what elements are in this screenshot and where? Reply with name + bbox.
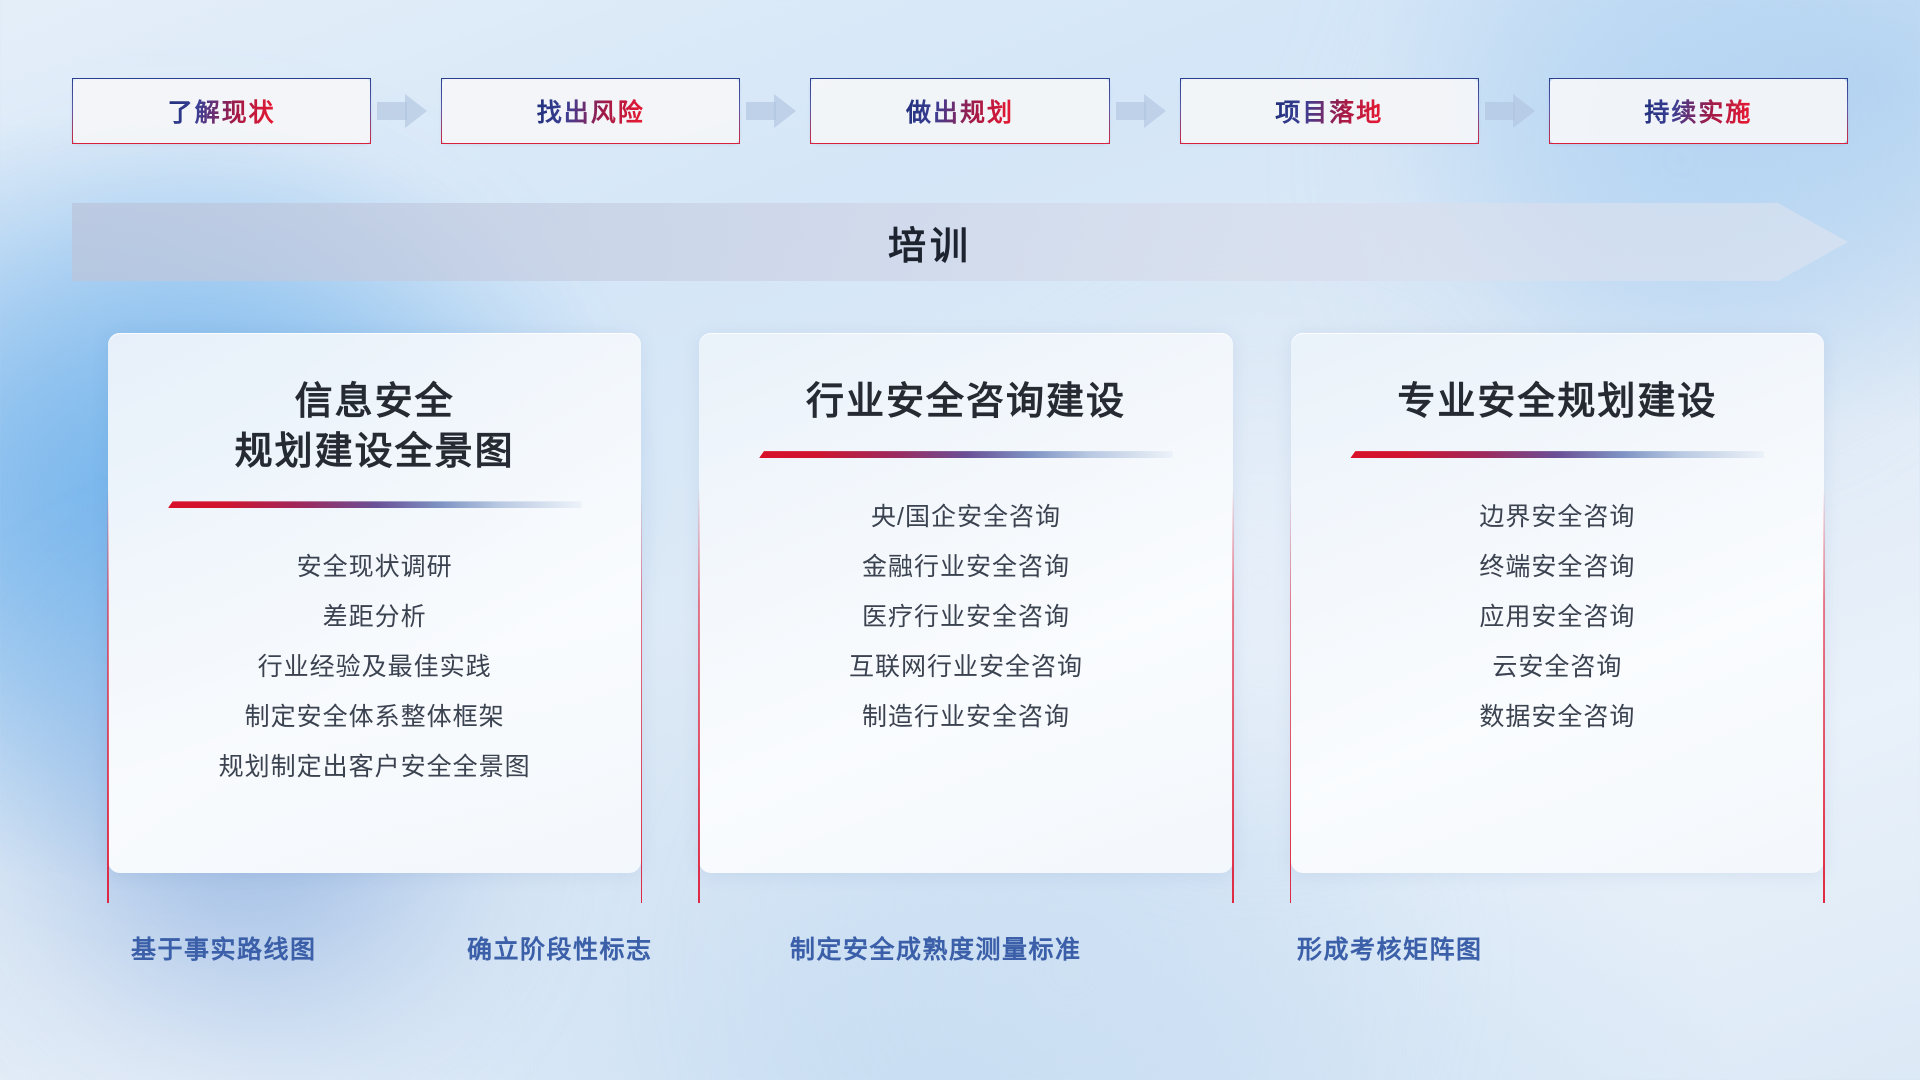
step-box-4[interactable]: 项目落地 (1180, 78, 1479, 144)
list-item: 央/国企安全咨询 (849, 492, 1083, 542)
step-arrow-icon-3 (1116, 94, 1174, 128)
training-banner: 培训 (72, 203, 1848, 281)
list-item: 制定安全体系整体框架 (219, 692, 531, 742)
step-arrow-icon-2 (746, 94, 804, 128)
list-item: 互联网行业安全咨询 (849, 642, 1083, 692)
step-arrow-icon-4 (1485, 94, 1543, 128)
footnote-row: 基于事实路线图 确立阶段性标志 制定安全成熟度测量标准 形成考核矩阵图 (0, 930, 1920, 980)
list-item: 边界安全咨询 (1479, 492, 1635, 542)
step-box-2[interactable]: 找出风险 (441, 78, 740, 144)
card-item-list: 央/国企安全咨询 金融行业安全咨询 医疗行业安全咨询 互联网行业安全咨询 制造行… (849, 492, 1083, 742)
banner-title: 培训 (72, 203, 1848, 281)
card-divider-rule (759, 451, 1173, 458)
list-item: 差距分析 (219, 592, 531, 642)
list-item: 行业经验及最佳实践 (219, 642, 531, 692)
step-label: 了解现状 (168, 93, 276, 129)
step-box-5[interactable]: 持续实施 (1549, 78, 1848, 144)
step-label: 找出风险 (537, 93, 645, 129)
card-title: 信息安全 规划建设全景图 (235, 377, 515, 477)
card-group: 信息安全 规划建设全景图 安全现状调研 差距分析 行业经验及最佳实践 制定安全体… (108, 333, 1824, 873)
card-information-security-blueprint[interactable]: 信息安全 规划建设全景图 安全现状调研 差距分析 行业经验及最佳实践 制定安全体… (108, 333, 641, 873)
card-item-list: 边界安全咨询 终端安全咨询 应用安全咨询 云安全咨询 数据安全咨询 (1479, 492, 1635, 742)
card-divider-rule (1350, 451, 1764, 458)
footnote-label: 形成考核矩阵图 (1297, 930, 1483, 966)
card-divider-rule (168, 501, 582, 508)
footnote-label: 基于事实路线图 (131, 930, 317, 966)
list-item: 云安全咨询 (1479, 642, 1635, 692)
list-item: 医疗行业安全咨询 (849, 592, 1083, 642)
card-title: 专业安全规划建设 (1397, 377, 1717, 427)
footnote-label: 确立阶段性标志 (467, 930, 653, 966)
step-box-3[interactable]: 做出规划 (810, 78, 1109, 144)
list-item: 应用安全咨询 (1479, 592, 1635, 642)
list-item: 安全现状调研 (219, 542, 531, 592)
process-step-flow: 了解现状 找出风险 做出规划 项目落地 持续实施 (72, 78, 1848, 144)
step-box-1[interactable]: 了解现状 (72, 78, 371, 144)
list-item: 数据安全咨询 (1479, 692, 1635, 742)
step-arrow-icon-1 (377, 94, 435, 128)
list-item: 金融行业安全咨询 (849, 542, 1083, 592)
card-title: 行业安全咨询建设 (806, 377, 1126, 427)
footnote-label: 制定安全成熟度测量标准 (790, 930, 1082, 966)
card-industry-security-consulting[interactable]: 行业安全咨询建设 央/国企安全咨询 金融行业安全咨询 医疗行业安全咨询 互联网行… (699, 333, 1232, 873)
card-professional-security-planning[interactable]: 专业安全规划建设 边界安全咨询 终端安全咨询 应用安全咨询 云安全咨询 数据安全… (1291, 333, 1824, 873)
list-item: 制造行业安全咨询 (849, 692, 1083, 742)
card-item-list: 安全现状调研 差距分析 行业经验及最佳实践 制定安全体系整体框架 规划制定出客户… (219, 542, 531, 792)
step-label: 持续实施 (1644, 93, 1752, 129)
step-label: 项目落地 (1275, 93, 1383, 129)
step-label: 做出规划 (906, 93, 1014, 129)
list-item: 终端安全咨询 (1479, 542, 1635, 592)
list-item: 规划制定出客户安全全景图 (219, 742, 531, 792)
